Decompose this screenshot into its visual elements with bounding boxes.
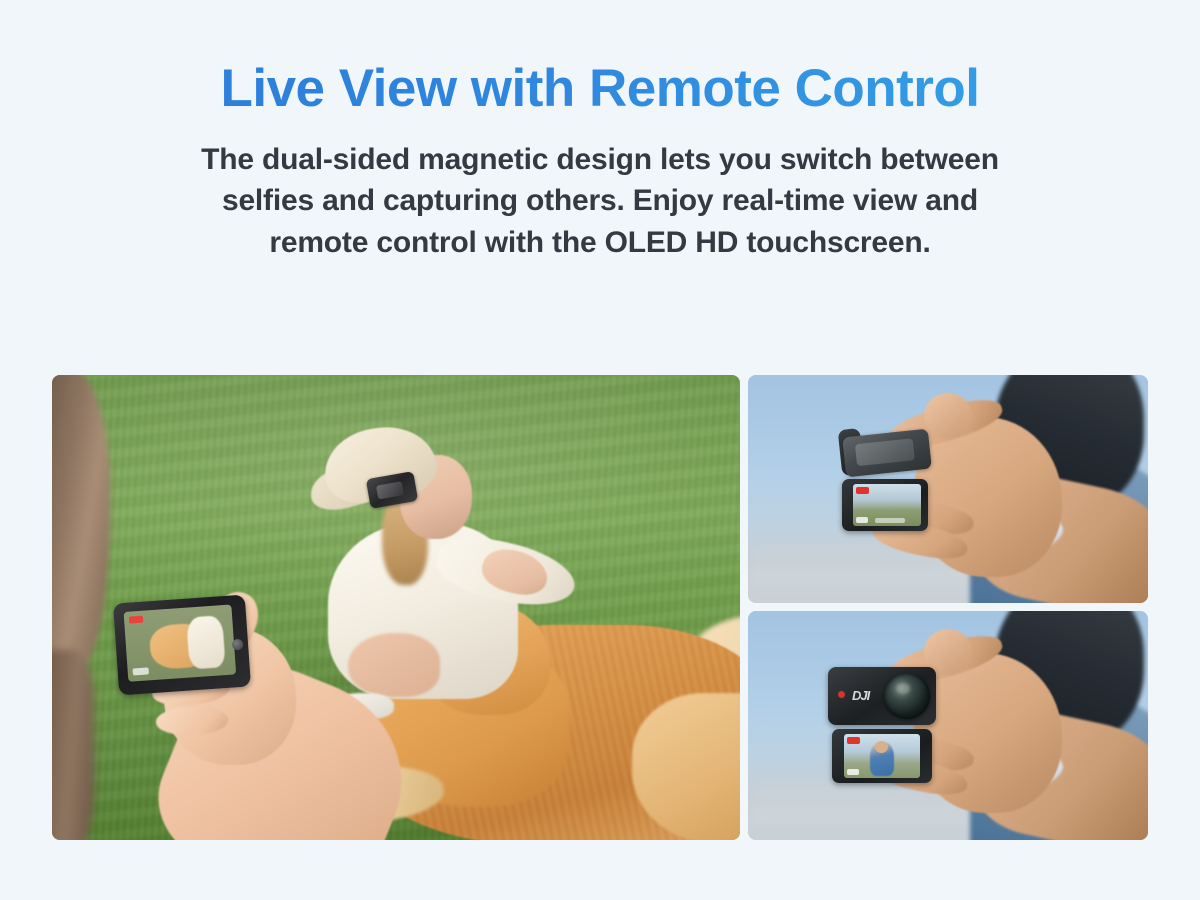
camera-touchscreen	[853, 484, 921, 526]
gallery-right-column: A hand holds the camera with the magneti…	[748, 375, 1148, 840]
screen-ui-readout	[875, 518, 905, 523]
screen-preview-child	[186, 615, 226, 669]
gallery-left-column: A person holds the action camera with li…	[52, 375, 740, 840]
camera-screen-body	[842, 479, 928, 531]
photographer-arm	[52, 650, 94, 840]
photo-lifestyle-child-dog[interactable]: A person holds the action camera with li…	[52, 375, 740, 840]
camera-touchscreen	[844, 734, 920, 778]
photo-magnetic-module-lens[interactable]: DJI A hand holds the camera showing the …	[748, 611, 1148, 840]
hand-thumb	[924, 393, 972, 439]
photo-magnetic-module-open[interactable]: A hand holds the camera with the magneti…	[748, 375, 1148, 603]
screen-ui-chip	[847, 769, 859, 775]
product-feature-page: Live View with Remote Control The dual-s…	[0, 0, 1200, 900]
lens-icon	[884, 673, 930, 719]
camera-screen-body	[832, 729, 932, 783]
subtitle-line-3: remote control with the OLED HD touchscr…	[0, 222, 1200, 264]
action-camera-body	[113, 595, 251, 696]
camera-lens-unit: DJI	[828, 667, 936, 725]
screen-preview-subject-head	[875, 741, 888, 753]
subtitle-line-2: selfies and capturing others. Enjoy real…	[0, 180, 1200, 222]
camera-shutter-button	[232, 639, 244, 651]
subtitle-line-1: The dual-sided magnetic design lets you …	[0, 139, 1200, 181]
page-title: Live View with Remote Control	[0, 58, 1200, 121]
screen-ui-chip	[133, 667, 149, 675]
page-subtitle: The dual-sided magnetic design lets you …	[0, 139, 1200, 264]
record-indicator-icon	[129, 616, 143, 624]
photo-gallery: A person holds the action camera with li…	[52, 375, 1148, 840]
record-indicator-icon	[847, 737, 860, 744]
headline-block: Live View with Remote Control The dual-s…	[0, 58, 1200, 264]
record-indicator-icon	[856, 487, 869, 494]
brand-logo: DJI	[852, 687, 874, 705]
record-led-icon	[838, 691, 845, 698]
screen-ui-chip	[856, 517, 868, 523]
child-leg	[348, 633, 440, 697]
action-camera-screen	[124, 604, 237, 681]
